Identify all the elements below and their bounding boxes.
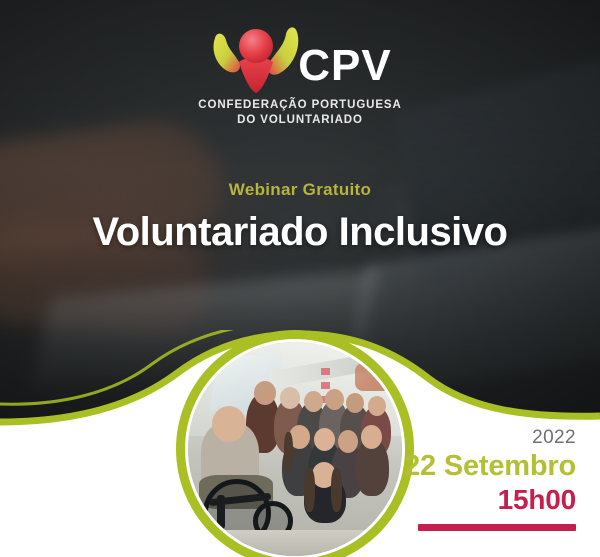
logo-wordmark: CPV bbox=[298, 44, 391, 88]
logo-tagline-line2: DO VOLUNTARIADO bbox=[198, 113, 401, 128]
page-title: Voluntariado Inclusivo bbox=[0, 210, 600, 255]
logo-tagline-line1: CONFEDERAÇÃO PORTUGUESA bbox=[198, 98, 401, 113]
cpv-logo: CPV CONFEDERAÇÃO PORTUGUESA DO VOLUNTARI… bbox=[0, 22, 600, 127]
webinar-poster: CPV CONFEDERAÇÃO PORTUGUESA DO VOLUNTARI… bbox=[0, 0, 600, 557]
event-time: 15h00 bbox=[296, 484, 576, 516]
logo-mark-row: CPV bbox=[208, 22, 391, 94]
date-underline-rule bbox=[418, 524, 576, 531]
cpv-person-mark-icon bbox=[208, 22, 304, 94]
event-day: 22 Setembro bbox=[296, 448, 576, 484]
logo-tagline: CONFEDERAÇÃO PORTUGUESA DO VOLUNTARIADO bbox=[198, 98, 401, 127]
event-year: 2022 bbox=[296, 428, 576, 448]
event-date-block: 2022 22 Setembro 15h00 bbox=[296, 428, 576, 531]
kicker-text: Webinar Gratuito bbox=[0, 180, 600, 200]
